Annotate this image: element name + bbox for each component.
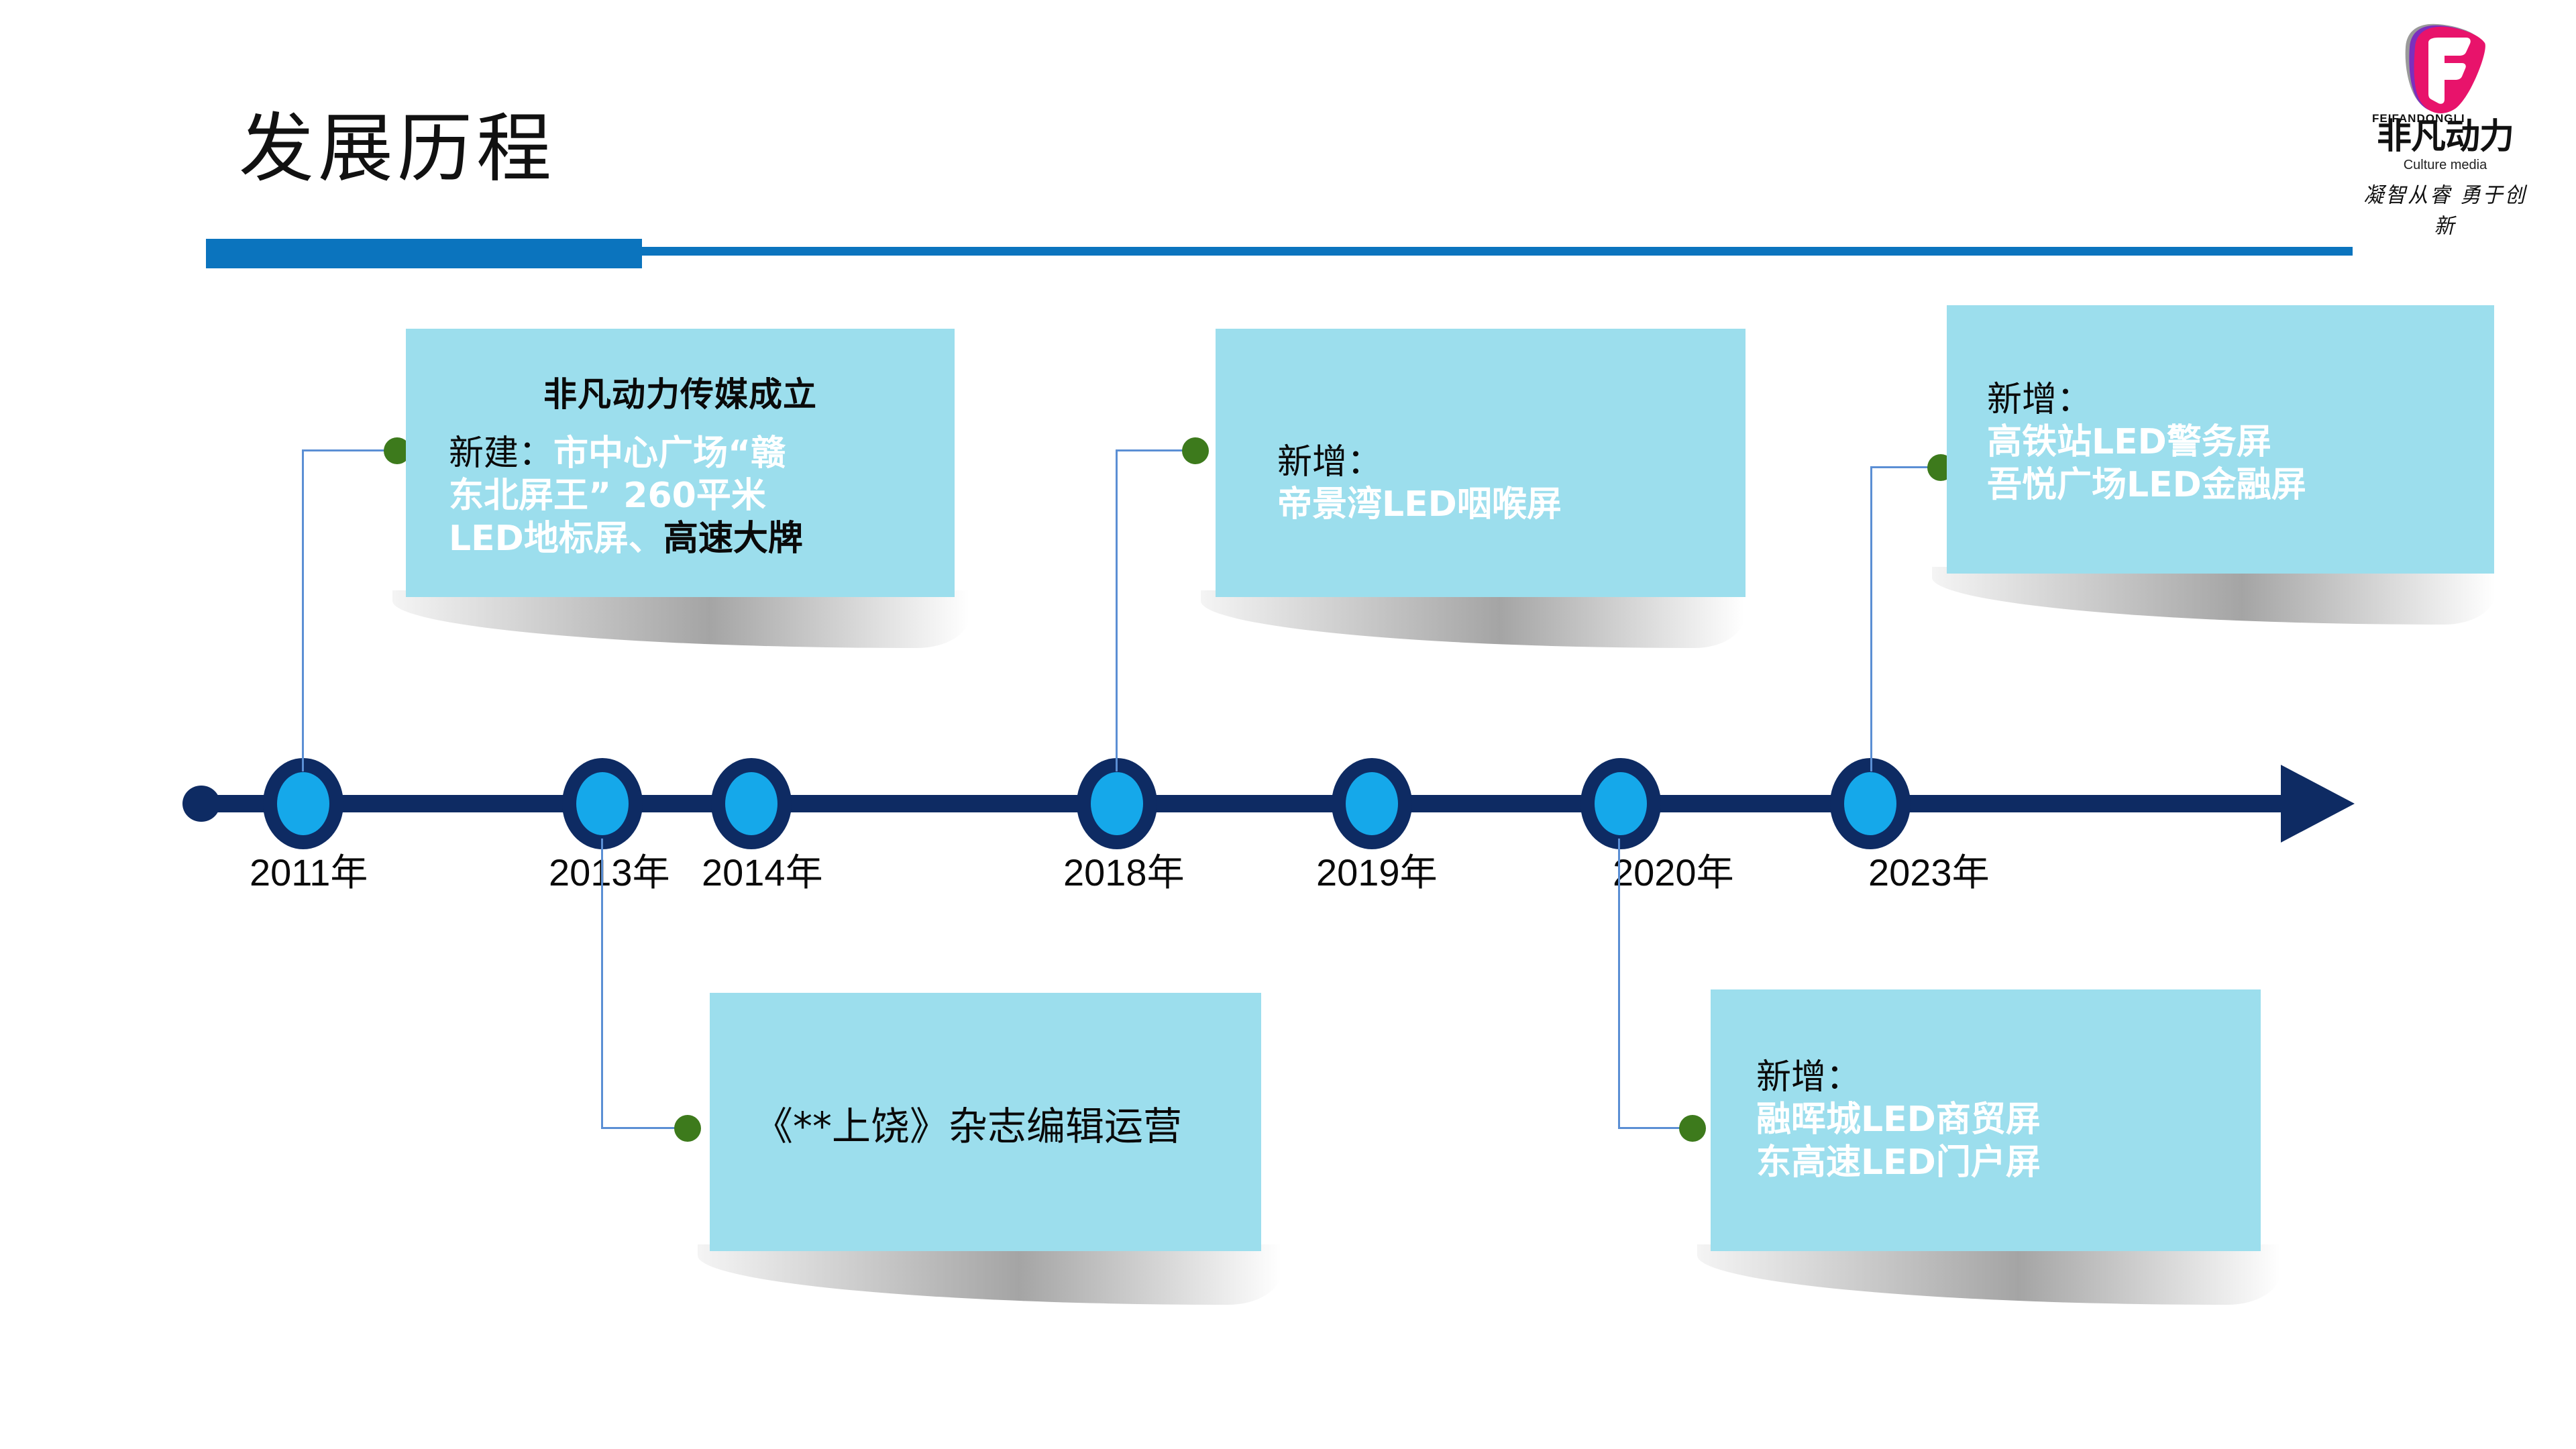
node-core [1346,772,1398,835]
company-logo: FEIFANDONGLI 非凡动力 Culture media 凝智从睿 勇于创… [2348,20,2536,221]
connector-2020-vertical [1618,839,1620,1128]
card-2023-body: 新增： 高铁站LED警务屏 吾悦广场LED金融屏 [1987,379,2483,506]
timeline-node-2020[interactable] [1580,758,1661,849]
timeline-node-2013[interactable] [562,758,643,849]
node-core [1595,772,1647,835]
logo-f-mark-icon [2387,20,2487,114]
card-2020-line1: 融晖城LED商贸屏 [1756,1099,2041,1140]
card-2011[interactable]: 非凡动力传媒成立 新建：市中心广场“赣 东北屏王” 260平米 LED地标屏、高… [406,329,955,597]
card-shadow-2018 [1201,590,1744,648]
card-2011-line3b: 高速大牌 [663,519,803,559]
card-2013[interactable]: 《**上饶》杂志编辑运营 [710,993,1261,1251]
card-2013-text: 《**上饶》杂志编辑运营 [754,994,1182,1252]
logo-company-name: 非凡动力 [2368,119,2522,154]
card-shadow-2023 [1932,567,2495,625]
connector-dot-2020 [1679,1115,1706,1142]
card-2020-lead: 新增： [1756,1057,1861,1097]
page-title: 发展历程 [239,107,555,190]
connector-dot-2013 [674,1115,701,1142]
year-label-2013: 2013年 [549,843,670,897]
title-underline-rule [641,247,2353,256]
node-core [277,772,329,835]
logo-subtitle: Culture media [2368,158,2522,173]
node-core [576,772,629,835]
card-2020[interactable]: 新增： 融晖城LED商贸屏 东高速LED门户屏 [1711,989,2261,1251]
connector-2011-vertical [302,449,304,771]
timeline-node-2023[interactable] [1830,758,1911,849]
card-2018-line1: 帝景湾LED咽喉屏 [1277,484,1562,525]
timeline-node-2019[interactable] [1332,758,1412,849]
card-2020-line2: 东高速LED门户屏 [1756,1142,2041,1183]
card-2011-line3a: LED地标屏、 [449,519,663,559]
card-shadow-2020 [1697,1244,2281,1305]
year-label-2011: 2011年 [250,843,368,897]
card-2023-line1: 高铁站LED警务屏 [1987,422,2271,462]
year-label-2018: 2018年 [1063,843,1185,897]
timeline-node-2018[interactable] [1077,758,1157,849]
node-core [1091,772,1143,835]
timeline-node-2011[interactable] [263,758,343,849]
card-2018[interactable]: 新增： 帝景湾LED咽喉屏 [1216,329,1746,597]
card-2011-title: 非凡动力传媒成立 [406,368,955,416]
card-2018-body: 新增： 帝景湾LED咽喉屏 [1277,441,1720,527]
card-2020-body: 新增： 融晖城LED商贸屏 东高速LED门户屏 [1756,1057,2239,1184]
connector-2018-vertical [1116,449,1118,771]
title-underline-bar [206,239,642,268]
logo-tagline: 凝智从睿 勇于创新 [2355,178,2536,239]
card-2011-lead: 新建： [449,433,553,474]
year-label-2019: 2019年 [1316,843,1438,897]
card-shadow-2011 [392,590,969,648]
card-2018-lead: 新增： [1277,442,1382,482]
timeline-axis [195,795,2294,812]
year-label-2020: 2020年 [1613,843,1734,897]
node-core [1844,772,1896,835]
card-2011-line1: 市中心广场“赣 [553,433,786,474]
card-2023-lead: 新增： [1987,380,2092,420]
node-core [725,772,777,835]
card-2011-body: 新建：市中心广场“赣 东北屏王” 260平米 LED地标屏、高速大牌 [449,433,918,560]
connector-dot-2018 [1182,437,1209,464]
year-label-2023: 2023年 [1868,843,1990,897]
connector-2013-vertical [601,839,603,1128]
card-2023[interactable]: 新增： 高铁站LED警务屏 吾悦广场LED金融屏 [1947,305,2494,574]
card-2023-line2: 吾悦广场LED金融屏 [1987,465,2306,505]
card-shadow-2013 [698,1244,1281,1305]
timeline-node-2014[interactable] [711,758,792,849]
card-2011-line2: 东北屏王” 260平米 [449,476,766,516]
connector-2023-vertical [1870,466,1872,771]
timeline-arrow-icon [2281,765,2355,843]
year-label-2014: 2014年 [702,843,823,897]
